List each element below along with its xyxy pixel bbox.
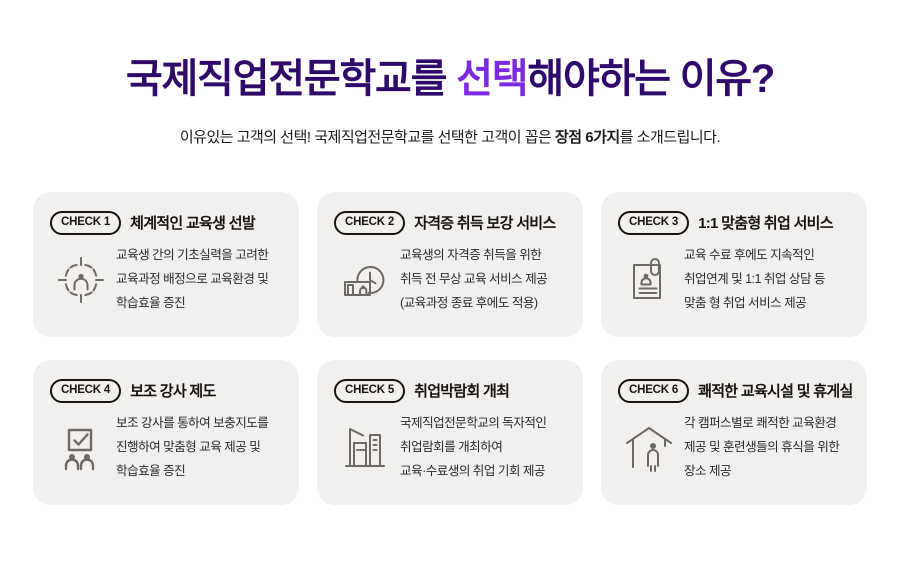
- page-title-part2: 해야하는 이유?: [527, 57, 774, 101]
- buildings-icon: [334, 417, 396, 479]
- desc-line: 제공 및 훈련생들의 휴식을 위한: [684, 435, 851, 459]
- card-description: 교육 수료 후에도 지속적인 취업연계 및 1:1 취업 상담 등 맞춤 형 취…: [680, 243, 851, 316]
- desc-line: 학습효율 증진: [116, 459, 283, 483]
- infographic-page: 국제직업전문학교를 선택해야하는 이유? 이유있는 고객의 선택! 국제직업전문…: [0, 0, 900, 576]
- desc-line: 교육생 간의 기초실력을 고려한: [116, 243, 283, 267]
- card-description: 교육생 간의 기초실력을 고려한 교육과정 배정으로 교육환경 및 학습효율 증…: [112, 243, 283, 316]
- check-badge: CHECK 3: [618, 211, 689, 235]
- card-header: CHECK 5 취업박람회 개최: [334, 379, 567, 403]
- desc-line: 취업람회를 개최하여: [400, 435, 567, 459]
- card-body: 보조 강사를 통하여 보충지도를 진행하여 맞춤형 교육 제공 및 학습효율 증…: [50, 411, 283, 484]
- check-badge: CHECK 4: [50, 379, 121, 403]
- card-title: 1:1 맞춤형 취업 서비스: [698, 216, 833, 231]
- desc-line: 맞춤 형 취업 서비스 제공: [684, 291, 851, 315]
- benefit-card: CHECK 2 자격증 취득 보강 서비스: [317, 192, 583, 337]
- checkboard-people-icon: [50, 417, 112, 479]
- card-header: CHECK 6 쾌적한 교육시설 및 휴게실: [618, 379, 851, 403]
- card-body: 국제직업전문학교의 독자적인 취업람회를 개최하여 교육·수료생의 취업 기회 …: [334, 411, 567, 484]
- card-description: 각 캠퍼스별로 쾌적한 교육환경 제공 및 훈련생들의 휴식을 위한 장소 제공: [680, 411, 851, 484]
- card-title: 자격증 취득 보강 서비스: [414, 216, 555, 231]
- check-badge: CHECK 2: [334, 211, 405, 235]
- desc-line: 보조 강사를 통하여 보충지도를: [116, 411, 283, 435]
- card-body: 교육생 간의 기초실력을 고려한 교육과정 배정으로 교육환경 및 학습효율 증…: [50, 243, 283, 316]
- card-description: 교육생의 자격증 취득을 위한 취득 전 무상 교육 서비스 제공 (교육과정 …: [396, 243, 567, 316]
- benefit-card: CHECK 1 체계적인 교육생 선발: [33, 192, 299, 337]
- card-title: 보조 강사 제도: [130, 384, 216, 399]
- check-badge: CHECK 5: [334, 379, 405, 403]
- card-header: CHECK 1 체계적인 교육생 선발: [50, 211, 283, 235]
- clipboard-resume-icon: [618, 249, 680, 311]
- desc-line: 취득 전 무상 교육 서비스 제공: [400, 267, 567, 291]
- page-title-part1: 국제직업전문학교를: [126, 57, 456, 101]
- check-badge-label: CHECK 4: [61, 385, 110, 397]
- benefit-card: CHECK 3 1:1 맞춤형 취업 서비스 교육 수료 후에도: [601, 192, 867, 337]
- desc-line: 교육·수료생의 취업 기회 제공: [400, 459, 567, 483]
- page-title-accent: 선택: [456, 57, 527, 101]
- card-description: 보조 강사를 통하여 보충지도를 진행하여 맞춤형 교육 제공 및 학습효율 증…: [112, 411, 283, 484]
- page-subtitle: 이유있는 고객의 선택! 국제직업전문학교를 선택한 고객이 꼽은 장점 6가지…: [0, 126, 900, 147]
- card-description: 국제직업전문학교의 독자적인 취업람회를 개최하여 교육·수료생의 취업 기회 …: [396, 411, 567, 484]
- card-title: 쾌적한 교육시설 및 휴게실: [698, 384, 853, 399]
- page-subtitle-part2: 를 소개드립니다.: [620, 129, 720, 146]
- desc-line: 각 캠퍼스별로 쾌적한 교육환경: [684, 411, 851, 435]
- desc-line: 취업연계 및 1:1 취업 상담 등: [684, 267, 851, 291]
- desc-line: 교육생의 자격증 취득을 위한: [400, 243, 567, 267]
- card-body: 각 캠퍼스별로 쾌적한 교육환경 제공 및 훈련생들의 휴식을 위한 장소 제공: [618, 411, 851, 484]
- benefit-card: CHECK 4 보조 강사 제도 보조 강사를 통하여 보충지도: [33, 360, 299, 505]
- card-title: 체계적인 교육생 선발: [130, 216, 255, 231]
- benefit-card: CHECK 5 취업박람회 개최 국제직업전문학교의 독자적인: [317, 360, 583, 505]
- card-header: CHECK 2 자격증 취득 보강 서비스: [334, 211, 567, 235]
- check-badge-label: CHECK 3: [629, 217, 678, 229]
- benefit-card-grid: CHECK 1 체계적인 교육생 선발: [33, 192, 867, 505]
- check-badge-label: CHECK 6: [629, 385, 678, 397]
- card-header: CHECK 3 1:1 맞춤형 취업 서비스: [618, 211, 851, 235]
- benefit-card: CHECK 6 쾌적한 교육시설 및 휴게실: [601, 360, 867, 505]
- desc-line: 교육 수료 후에도 지속적인: [684, 243, 851, 267]
- card-body: 교육생의 자격증 취득을 위한 취득 전 무상 교육 서비스 제공 (교육과정 …: [334, 243, 567, 316]
- desc-line: 학습효율 증진: [116, 291, 283, 315]
- desc-line: 장소 제공: [684, 459, 851, 483]
- page-subtitle-part1: 이유있는 고객의 선택! 국제직업전문학교를 선택한 고객이 꼽은: [180, 129, 555, 146]
- page-title: 국제직업전문학교를 선택해야하는 이유?: [0, 56, 900, 102]
- card-header: CHECK 4 보조 강사 제도: [50, 379, 283, 403]
- desc-line: (교육과정 종료 후에도 적용): [400, 291, 567, 315]
- house-person-icon: [618, 417, 680, 479]
- check-badge: CHECK 1: [50, 211, 121, 235]
- clock-classroom-icon: [334, 249, 396, 311]
- page-header: 국제직업전문학교를 선택해야하는 이유? 이유있는 고객의 선택! 국제직업전문…: [0, 0, 900, 147]
- desc-line: 교육과정 배정으로 교육환경 및: [116, 267, 283, 291]
- check-badge-label: CHECK 2: [345, 217, 394, 229]
- desc-line: 국제직업전문학교의 독자적인: [400, 411, 567, 435]
- target-person-icon: [50, 249, 112, 311]
- page-subtitle-strong: 장점 6가지: [555, 129, 620, 146]
- card-title: 취업박람회 개최: [414, 384, 509, 399]
- desc-line: 진행하여 맞춤형 교육 제공 및: [116, 435, 283, 459]
- card-body: 교육 수료 후에도 지속적인 취업연계 및 1:1 취업 상담 등 맞춤 형 취…: [618, 243, 851, 316]
- check-badge: CHECK 6: [618, 379, 689, 403]
- check-badge-label: CHECK 5: [345, 385, 394, 397]
- check-badge-label: CHECK 1: [61, 217, 110, 229]
